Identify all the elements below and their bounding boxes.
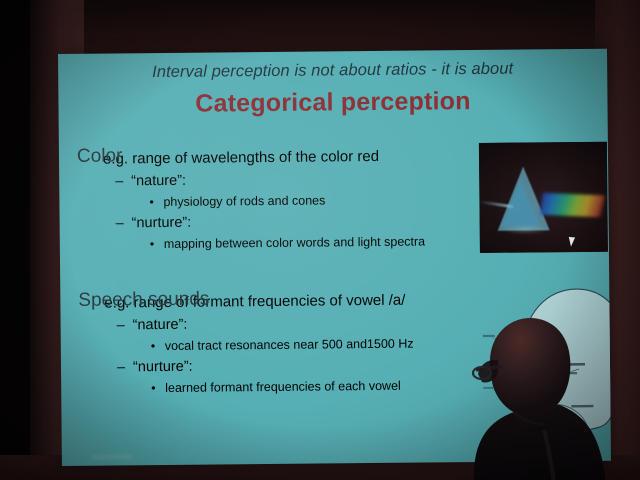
bullet-label: “nature”: (131, 173, 186, 190)
bullet-nurture: –“nurture”: (79, 357, 414, 376)
section-heading: Color (77, 145, 123, 167)
slide-title: Categorical perception (58, 86, 607, 120)
bullet-nature: –“nature”: (79, 315, 414, 334)
slide-footer-mark (92, 454, 132, 459)
dash-marker: – (115, 173, 131, 189)
diagram-label-blur (559, 372, 577, 374)
prism-base-glow (502, 224, 550, 234)
subbullet-label: physiology of rods and cones (163, 193, 325, 209)
subbullet-nature: •physiology of rods and cones (77, 192, 424, 209)
head-outline (514, 289, 611, 461)
bullet-label: “nurture”: (132, 215, 192, 232)
prism-inner-glow (501, 178, 539, 226)
presentation-slide: Interval perception is not about ratios … (58, 49, 611, 466)
diagram-label-blur (566, 429, 582, 431)
subbullet-label: mapping between color words and light sp… (164, 234, 425, 251)
subbullet-nature: •vocal tract resonances near 500 and1500… (79, 337, 414, 354)
section-heading: Speech sounds (78, 289, 209, 312)
leader-line (493, 338, 523, 342)
subbullet-label: vocal tract resonances near 500 and1500 … (165, 337, 414, 353)
bullet-marker: • (151, 339, 165, 353)
section-example: e.g. range of wavelengths of the color r… (77, 147, 424, 167)
diagram-label-blur (483, 335, 495, 337)
bullet-marker: • (150, 237, 164, 251)
subbullet-label: learned formant frequencies of each vowe… (165, 379, 401, 395)
diagram-label-blur (555, 363, 585, 366)
dash-marker: – (117, 317, 133, 333)
bullet-label: “nurture”: (133, 359, 193, 376)
bullet-marker: • (149, 195, 163, 209)
section-color: Color e.g. range of wavelengths of the c… (77, 142, 425, 251)
subbullet-nurture: •learned formant frequencies of each vow… (79, 379, 414, 396)
refracted-spectrum (540, 193, 605, 217)
bullet-nurture: –“nurture”: (78, 212, 425, 231)
dash-marker: – (116, 215, 132, 231)
diagram-label-blur (483, 387, 493, 389)
bullet-marker: • (151, 381, 165, 395)
section-speech-sounds: Speech sounds e.g. range of formant freq… (78, 287, 414, 396)
slide-subtitle: Interval perception is not about ratios … (58, 59, 607, 83)
bullet-label: “nature”: (133, 317, 188, 334)
vocal-tract-head-diagram (482, 276, 611, 462)
prism-light-dispersion-photo (479, 142, 608, 253)
bullet-nature: –“nature”: (77, 170, 424, 189)
room-dark-edge (0, 0, 30, 480)
subbullet-nurture: •mapping between color words and light s… (78, 234, 425, 251)
diagram-label-blur (571, 405, 593, 408)
leader-line (493, 364, 519, 366)
dash-marker: – (117, 359, 133, 375)
photo-of-projected-slide: Interval perception is not about ratios … (0, 0, 640, 480)
